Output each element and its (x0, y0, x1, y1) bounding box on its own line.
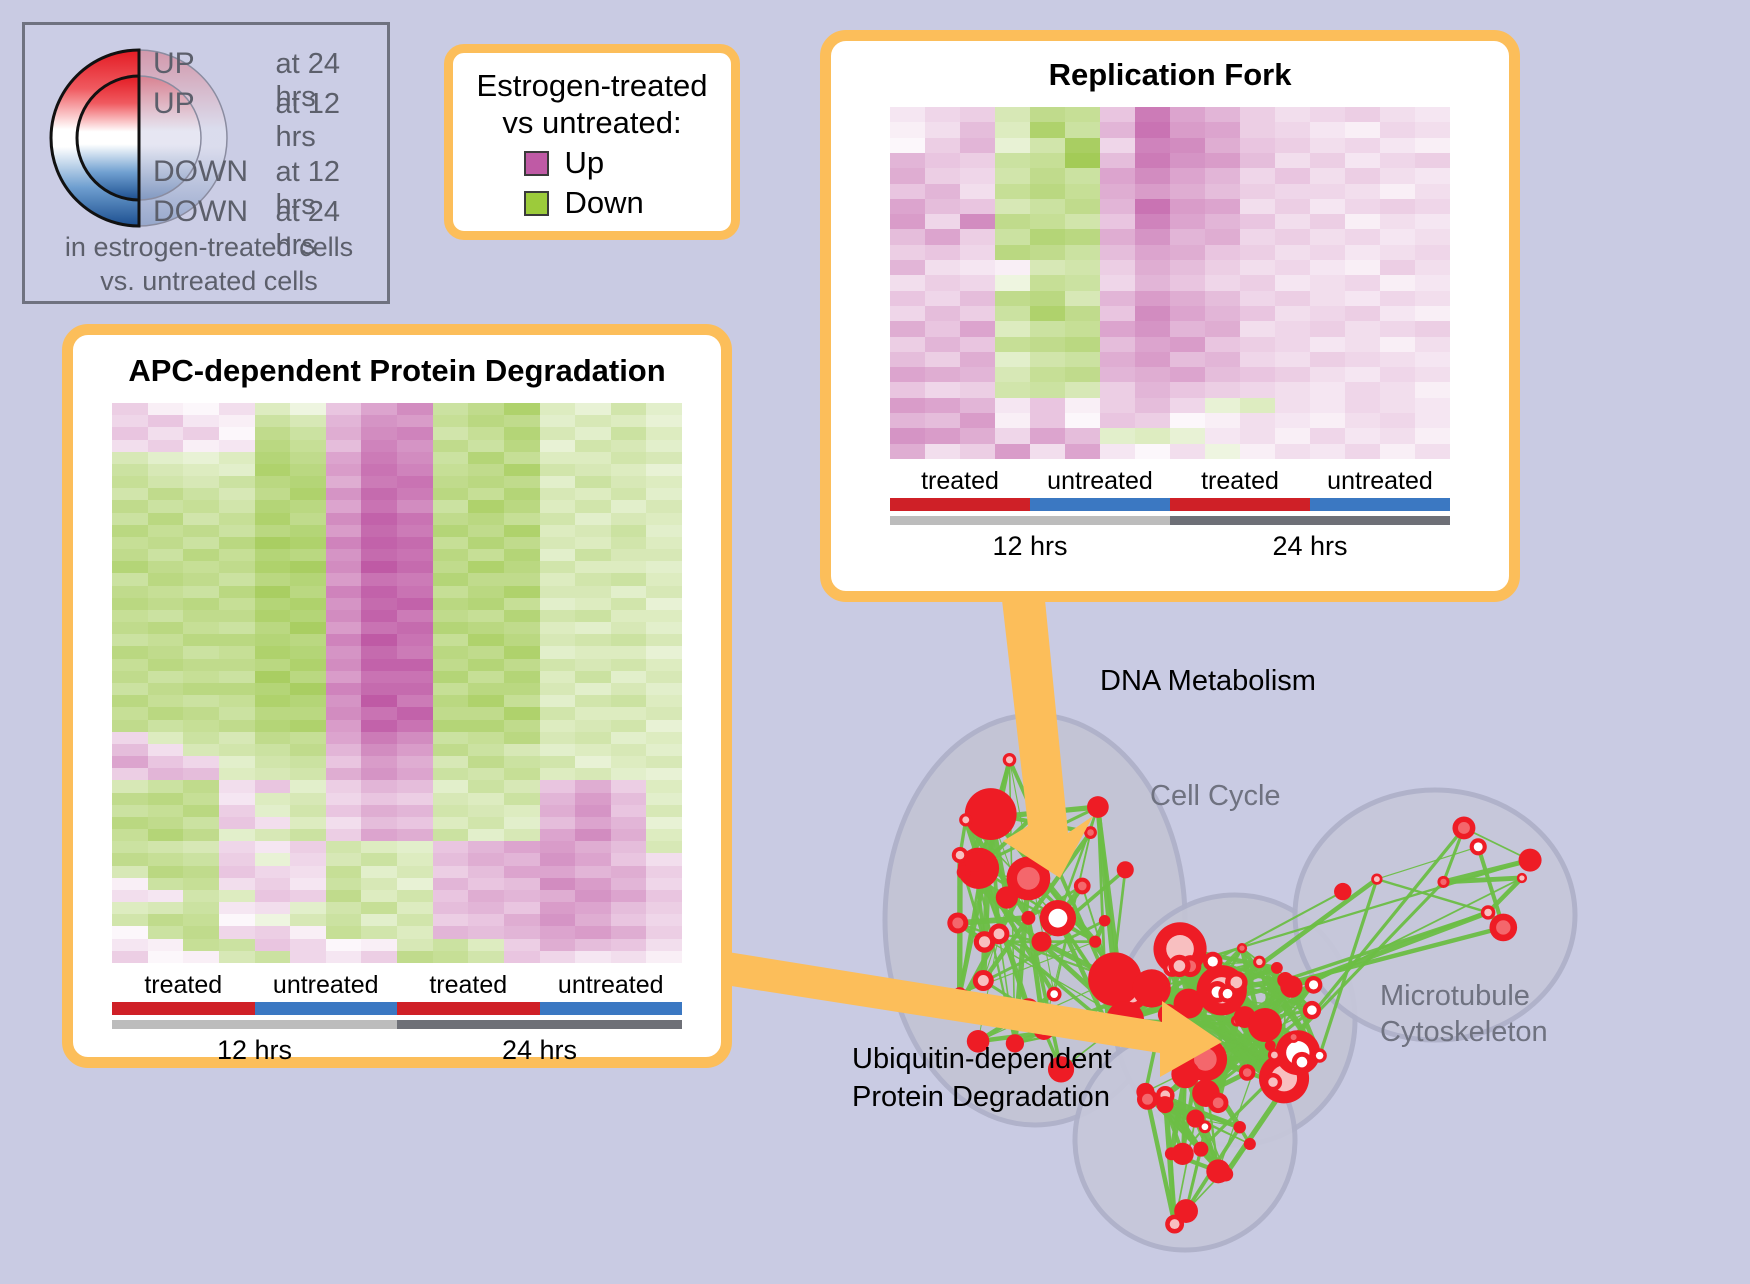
heatmap-cell (219, 780, 255, 792)
heatmap-cell (1240, 398, 1275, 413)
heatmap-cell (1170, 382, 1205, 397)
heatmap-cell (925, 337, 960, 352)
heatmap-cell (925, 444, 960, 459)
up-label: Up (565, 145, 661, 181)
heatmap-cell (112, 549, 148, 561)
heatmap-cell (290, 878, 326, 890)
heatmap-cell (361, 659, 397, 671)
heatmap-cell (890, 321, 925, 336)
heatmap-cell (183, 890, 219, 902)
treatment-color-bar (890, 498, 1450, 511)
heatmap-cell (148, 561, 184, 573)
heatmap-cell (433, 452, 469, 464)
heatmap-cell (646, 878, 682, 890)
heatmap-cell (575, 805, 611, 817)
heatmap-cell (925, 367, 960, 382)
heatmap-cell (646, 720, 682, 732)
heatmap-cell (1100, 138, 1135, 153)
heatmap-cell (290, 403, 326, 415)
heatmap-cell (1345, 321, 1380, 336)
heatmap-cell (1100, 260, 1135, 275)
heatmap-cell (890, 184, 925, 199)
heatmap-cell (611, 525, 647, 537)
panel-replication-fork: Replication Fork treateduntreatedtreated… (820, 30, 1520, 602)
heatmap-cell (575, 951, 611, 963)
heatmap-cell (1100, 291, 1135, 306)
heatmap-cell (611, 427, 647, 439)
heatmap-cell (1240, 260, 1275, 275)
heatmap-cell (1345, 398, 1380, 413)
heatmap-cell (361, 914, 397, 926)
heatmap-cell (255, 951, 291, 963)
heatmap-cell (255, 671, 291, 683)
legend-item-up: Up (453, 145, 731, 181)
heatmap-replication-fork (890, 107, 1450, 459)
heatmap-cell (112, 659, 148, 671)
heatmap-cell (995, 321, 1030, 336)
heatmap-cell (397, 683, 433, 695)
heatmap-cell (1345, 337, 1380, 352)
heatmap-cell (925, 199, 960, 214)
heatmap-cell (397, 853, 433, 865)
heatmap-cell (326, 805, 362, 817)
heatmap-cell (960, 367, 995, 382)
heatmap-cell (148, 440, 184, 452)
heatmap-cell (433, 500, 469, 512)
heatmap-cell (290, 549, 326, 561)
heatmap-cell (290, 902, 326, 914)
heatmap-cell (540, 610, 576, 622)
network-node (1186, 1110, 1204, 1128)
heatmap-cell (255, 829, 291, 841)
heatmap-cell (1065, 444, 1100, 459)
heatmap-cell (1310, 168, 1345, 183)
heatmap-cell (148, 780, 184, 792)
heatmap-cell (925, 168, 960, 183)
heatmap-cell (397, 902, 433, 914)
heatmap-cell (290, 513, 326, 525)
legend-caption-line2: vs. untreated cells (25, 264, 393, 298)
heatmap-cell (575, 890, 611, 902)
heatmap-cell (1415, 107, 1450, 122)
heatmap-cell (183, 598, 219, 610)
heatmap-cell (433, 598, 469, 610)
heatmap-cell (148, 403, 184, 415)
heatmap-cell (183, 586, 219, 598)
heatmap-cell (112, 817, 148, 829)
heatmap-cell (1030, 291, 1065, 306)
heatmap-cell (1380, 153, 1415, 168)
heatmap-cell (326, 756, 362, 768)
heatmap-cell (148, 695, 184, 707)
heatmap-cell (290, 440, 326, 452)
heatmap-cell (326, 671, 362, 683)
heatmap-cell (1310, 352, 1345, 367)
network-node-core (1309, 980, 1318, 989)
heatmap-cell (611, 768, 647, 780)
heatmap-cell (397, 780, 433, 792)
cluster-label-microtubule-cytoskeleton: Microtubule Cytoskeleton (1380, 978, 1548, 1050)
heatmap-cell (433, 488, 469, 500)
heatmap-cell (255, 500, 291, 512)
heatmap-cell (219, 488, 255, 500)
heatmap-cell (1275, 352, 1310, 367)
heatmap-cell (1275, 199, 1310, 214)
heatmap-cell (468, 476, 504, 488)
heatmap-cell (1380, 199, 1415, 214)
heatmap-cell (468, 926, 504, 938)
heatmap-cell (468, 890, 504, 902)
heatmap-cell (361, 926, 397, 938)
heatmap-cell (397, 415, 433, 427)
heatmap-cell (361, 525, 397, 537)
heatmap-cell (646, 841, 682, 853)
heatmap-cell (504, 756, 540, 768)
heatmap-cell (1030, 367, 1065, 382)
heatmap-cell (433, 926, 469, 938)
heatmap-cell (183, 573, 219, 585)
heatmap-cell (1100, 444, 1135, 459)
network-node-core (1239, 945, 1244, 950)
heatmap-cell (148, 573, 184, 585)
heatmap-cell (1135, 260, 1170, 275)
network-node-core (1170, 1219, 1180, 1229)
protein-interaction-network (795, 620, 1750, 1279)
heatmap-cell (290, 646, 326, 658)
heatmap-cell (183, 805, 219, 817)
legend-row: UP at 12 hrs (153, 87, 387, 127)
heatmap-cell (1345, 428, 1380, 443)
heatmap-cell (255, 427, 291, 439)
heatmap-cell (1135, 413, 1170, 428)
heatmap-cell (255, 452, 291, 464)
heatmap-cell (890, 413, 925, 428)
heatmap-cell (504, 683, 540, 695)
heatmap-cell (611, 695, 647, 707)
heatmap-cell (148, 878, 184, 890)
legend-direction: DOWN (153, 195, 276, 229)
heatmap-cell (1170, 122, 1205, 137)
heatmap-cell (433, 756, 469, 768)
heatmap-cell (112, 561, 148, 573)
heatmap-cell (183, 403, 219, 415)
heatmap-cell (646, 561, 682, 573)
heatmap-cell (397, 744, 433, 756)
heatmap-cell (433, 646, 469, 658)
heatmap-cell (925, 260, 960, 275)
heatmap-cell (1275, 245, 1310, 260)
heatmap-cell (326, 817, 362, 829)
heatmap-cell (540, 768, 576, 780)
heatmap-cell (148, 634, 184, 646)
heatmap-cell (575, 768, 611, 780)
heatmap-cell (1135, 382, 1170, 397)
network-node-core (1087, 829, 1094, 836)
heatmap-cell (326, 659, 362, 671)
heatmap-cell (1345, 168, 1380, 183)
heatmap-cell (611, 634, 647, 646)
heatmap-cell (646, 817, 682, 829)
heatmap-cell (1030, 428, 1065, 443)
heatmap-cell (183, 415, 219, 427)
heatmap-cell (1030, 275, 1065, 290)
heatmap-cell (326, 464, 362, 476)
heatmap-cell (1170, 184, 1205, 199)
heatmap-cell (540, 853, 576, 865)
heatmap-cell (183, 768, 219, 780)
heatmap-cell (361, 853, 397, 865)
heatmap-cell (397, 707, 433, 719)
heatmap-cell (326, 707, 362, 719)
network-node-core (1484, 909, 1492, 917)
heatmap-cell (890, 168, 925, 183)
heatmap-cell (504, 610, 540, 622)
heatmap-cell (646, 695, 682, 707)
heatmap-cell (433, 573, 469, 585)
heatmap-cell (183, 817, 219, 829)
heatmap-cell (1380, 245, 1415, 260)
heatmap-cell (112, 622, 148, 634)
heatmap-cell (433, 902, 469, 914)
heatmap-cell (1170, 153, 1205, 168)
heatmap-cell (646, 573, 682, 585)
heatmap-cell (1205, 413, 1240, 428)
heatmap-cell (890, 122, 925, 137)
timepoint-bar-segment (112, 1020, 397, 1029)
heatmap-cell (540, 756, 576, 768)
heatmap-cell (397, 805, 433, 817)
heatmap-cell (433, 744, 469, 756)
heatmap-cell (433, 707, 469, 719)
heatmap-cell (397, 586, 433, 598)
timepoint-label: 12 hrs (890, 531, 1170, 562)
heatmap-cell (960, 184, 995, 199)
legend-direction: UP (153, 47, 276, 81)
heatmap-cell (890, 214, 925, 229)
heatmap-cell (925, 229, 960, 244)
heatmap-cell (1030, 352, 1065, 367)
heatmap-cell (433, 853, 469, 865)
heatmap-cell (1415, 199, 1450, 214)
heatmap-cell (290, 525, 326, 537)
heatmap-cell (646, 756, 682, 768)
heatmap-cell (540, 537, 576, 549)
heatmap-cell (504, 793, 540, 805)
network-node (1334, 883, 1351, 900)
heatmap-cell (255, 902, 291, 914)
heatmap-cell (148, 525, 184, 537)
heatmap-cell (960, 107, 995, 122)
heatmap-cell (611, 805, 647, 817)
heatmap-cell (890, 337, 925, 352)
heatmap-cell (1310, 184, 1345, 199)
heatmap-cell (361, 683, 397, 695)
heatmap-cell (397, 403, 433, 415)
heatmap-cell (575, 683, 611, 695)
heatmap-cell (433, 793, 469, 805)
heatmap-cell (540, 476, 576, 488)
legend-row: UP at 24 hrs (153, 47, 387, 87)
heatmap-cell (112, 793, 148, 805)
heatmap-cell (112, 707, 148, 719)
heatmap-cell (361, 720, 397, 732)
network-node-core (1038, 1024, 1049, 1035)
heatmap-cell (1275, 153, 1310, 168)
heatmap-cell (112, 671, 148, 683)
heatmap-cell (397, 427, 433, 439)
network-node-core (1496, 920, 1510, 934)
network-node-core (1142, 1094, 1153, 1105)
heatmap-cell (1065, 260, 1100, 275)
heatmap-cell (468, 671, 504, 683)
heatmap-cell (1380, 184, 1415, 199)
heatmap-cell (433, 768, 469, 780)
heatmap-cell (397, 671, 433, 683)
heatmap-cell (290, 732, 326, 744)
heatmap-cell (1205, 122, 1240, 137)
heatmap-cell (1275, 107, 1310, 122)
heatmap-cell (540, 500, 576, 512)
heatmap-cell (112, 634, 148, 646)
heatmap-cell (219, 853, 255, 865)
heatmap-cell (1135, 153, 1170, 168)
heatmap-cell (397, 561, 433, 573)
heatmap-cell (219, 646, 255, 658)
heatmap-cell (611, 780, 647, 792)
heatmap-cell (433, 622, 469, 634)
heatmap-cell (468, 951, 504, 963)
heatmap-cell (1380, 122, 1415, 137)
heatmap-cell (611, 926, 647, 938)
heatmap-cell (890, 398, 925, 413)
heatmap-cell (1100, 367, 1135, 382)
heatmap-cell (326, 525, 362, 537)
heatmap-cell (255, 695, 291, 707)
heatmap-cell (397, 659, 433, 671)
heatmap-cell (1275, 168, 1310, 183)
heatmap-cell (540, 586, 576, 598)
heatmap-cell (433, 634, 469, 646)
treatment-bar-segment (540, 1002, 683, 1015)
heatmap-cell (326, 415, 362, 427)
network-node-core (957, 995, 969, 1007)
heatmap-cell (1415, 138, 1450, 153)
network-node-core (994, 928, 1005, 939)
heatmap-cell (504, 951, 540, 963)
heatmap-cell (290, 951, 326, 963)
heatmap-cell (611, 951, 647, 963)
heatmap-cell (1135, 184, 1170, 199)
down-label: Down (565, 185, 661, 221)
heatmap-cell (646, 744, 682, 756)
heatmap-cell (504, 573, 540, 585)
heatmap-cell (540, 793, 576, 805)
heatmap-cell (1345, 367, 1380, 382)
heatmap-cell (290, 671, 326, 683)
heatmap-cell (433, 403, 469, 415)
heatmap-cell (183, 427, 219, 439)
heatmap-cell (255, 525, 291, 537)
heatmap-cell (148, 646, 184, 658)
heatmap-cell (1100, 352, 1135, 367)
heatmap-cell (646, 829, 682, 841)
heatmap-cell (575, 671, 611, 683)
heatmap-cell (1135, 352, 1170, 367)
heatmap-cell (540, 403, 576, 415)
heatmap-cell (1380, 428, 1415, 443)
heatmap-cell (290, 500, 326, 512)
heatmap-cell (148, 756, 184, 768)
heatmap-cell (646, 793, 682, 805)
heatmap-cell (504, 452, 540, 464)
heatmap-cell (611, 646, 647, 658)
heatmap-cell (575, 415, 611, 427)
heatmap-cell (183, 464, 219, 476)
heatmap-cell (646, 902, 682, 914)
heatmap-cell (397, 464, 433, 476)
heatmap-cell (1205, 229, 1240, 244)
heatmap-cell (183, 537, 219, 549)
heatmap-cell (468, 403, 504, 415)
heatmap-cell (540, 902, 576, 914)
heatmap-cell (361, 573, 397, 585)
heatmap-cell (1065, 153, 1100, 168)
heatmap-cell (575, 586, 611, 598)
heatmap-cell (397, 573, 433, 585)
heatmap-cell (1065, 398, 1100, 413)
heatmap-cell (504, 878, 540, 890)
heatmap-cell (148, 853, 184, 865)
heatmap-cell (255, 646, 291, 658)
heatmap-cell (433, 780, 469, 792)
heatmap-cell (575, 732, 611, 744)
heatmap-cell (1415, 153, 1450, 168)
heatmap-cell (1275, 291, 1310, 306)
heatmap-cell (1415, 337, 1450, 352)
heatmap-cell (255, 561, 291, 573)
heatmap-cell (575, 427, 611, 439)
heatmap-cell (504, 780, 540, 792)
network-node-core (1174, 960, 1186, 972)
heatmap-cell (255, 841, 291, 853)
heatmap-cell (1345, 444, 1380, 459)
heatmap-cell (504, 817, 540, 829)
heatmap-cell (504, 939, 540, 951)
heatmap-cell (1030, 229, 1065, 244)
heatmap-cell (504, 902, 540, 914)
heatmap-cell (575, 476, 611, 488)
heatmap-cell (219, 817, 255, 829)
heatmap-cell (1380, 107, 1415, 122)
heatmap-cell (255, 732, 291, 744)
heatmap-cell (112, 780, 148, 792)
heatmap-cell (646, 488, 682, 500)
heatmap-cell (1380, 168, 1415, 183)
sample-label: treated (112, 971, 255, 1000)
heatmap-cell (1030, 122, 1065, 137)
heatmap-cell (1065, 306, 1100, 321)
network-node (1248, 1008, 1282, 1042)
heatmap-cell (611, 464, 647, 476)
timepoint-color-bar (112, 1020, 682, 1029)
heatmap-cell (326, 561, 362, 573)
heatmap-cell (646, 768, 682, 780)
heatmap-cell (925, 306, 960, 321)
legend-caption: in estrogen-treated cells vs. untreated … (25, 230, 393, 298)
sample-label: untreated (255, 971, 398, 1000)
heatmap-cell (433, 537, 469, 549)
heatmap-cell (148, 890, 184, 902)
